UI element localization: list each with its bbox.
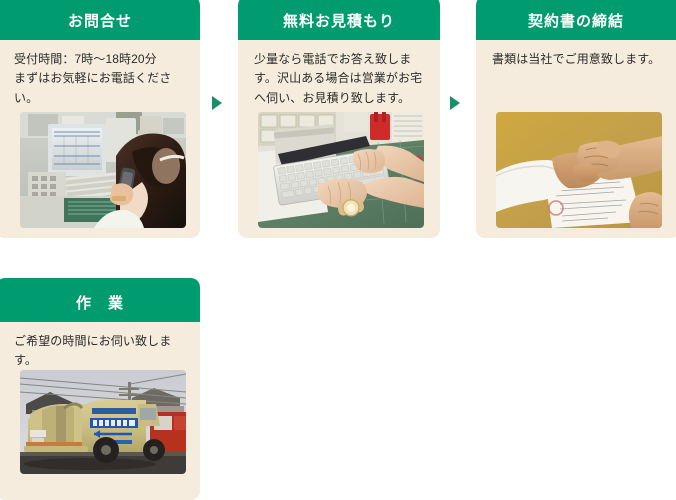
step-card-free-estimate[interactable]: 無料お見積もり 少量なら電話でお答え致します。沢山ある場合は営業がお宅へ伺い、お… (238, 0, 440, 238)
step-card-contract[interactable]: 契約書の締結 書類は当社でご用意致します。 (476, 0, 676, 238)
step-card-free-estimate-description: 少量なら電話でお答え致します。沢山ある場合は営業がお宅へ伺い、お見積り致します。 (254, 50, 426, 108)
step-card-free-estimate-title: 無料お見積もり (238, 0, 440, 40)
photo-collection-truck (20, 370, 186, 474)
step-card-contract-title-text: 契約書の締結 (528, 10, 624, 31)
step-card-work-title-text: 作 業 (76, 292, 124, 313)
step-card-work-body: ご希望の時間にお伺い致します。 (0, 322, 200, 371)
step-card-work-description: ご希望の時間にお伺い致します。 (14, 332, 186, 371)
step-card-inquiry-title-text: お問合せ (68, 10, 132, 31)
photo-hands-typing-keyboard (258, 112, 424, 228)
photo-handshake-over-contract-graphic (496, 112, 662, 228)
step-card-inquiry-title: お問合せ (0, 0, 200, 40)
step-card-contract-body: 書類は当社でご用意致します。 (476, 40, 676, 69)
step-card-contract-description: 書類は当社でご用意致します。 (492, 50, 666, 69)
step-card-work[interactable]: 作 業 ご希望の時間にお伺い致します。 (0, 278, 200, 500)
step-card-inquiry-body: 受付時間：7時～18時20分 まずはお気軽にお電話ください。 (0, 40, 200, 108)
arrow-step1-to-step2 (212, 96, 222, 110)
step-card-work-title: 作 業 (0, 278, 200, 322)
process-steps-board: お問合せ 受付時間：7時～18時20分 まずはお気軽にお電話ください。 (0, 0, 676, 500)
photo-handshake-over-contract (496, 112, 662, 228)
photo-call-center-operator (20, 112, 186, 228)
step-card-free-estimate-body: 少量なら電話でお答え致します。沢山ある場合は営業がお宅へ伺い、お見積り致します。 (238, 40, 440, 108)
photo-collection-truck-graphic (20, 370, 186, 474)
arrow-step2-to-step3 (450, 96, 460, 110)
step-card-free-estimate-title-text: 無料お見積もり (283, 10, 395, 31)
step-card-contract-title: 契約書の締結 (476, 0, 676, 40)
step-card-inquiry-description: 受付時間：7時～18時20分 まずはお気軽にお電話ください。 (14, 50, 186, 108)
photo-hands-typing-keyboard-graphic (258, 112, 424, 228)
photo-call-center-operator-graphic (20, 112, 186, 228)
step-card-inquiry[interactable]: お問合せ 受付時間：7時～18時20分 まずはお気軽にお電話ください。 (0, 0, 200, 238)
